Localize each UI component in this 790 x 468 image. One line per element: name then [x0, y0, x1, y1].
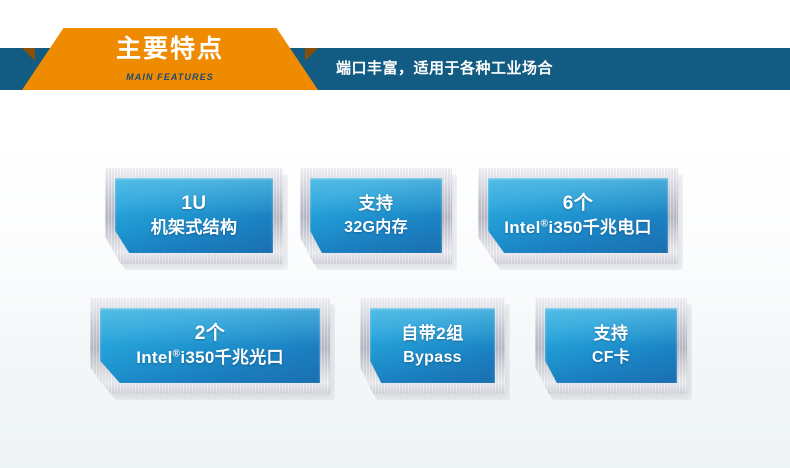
model-text: i350千兆光口 — [180, 348, 284, 367]
feature-highlight-page: 主要特点 MAIN FEATURES 端口丰富，适用于各种工业场合 1U 机架式… — [0, 0, 790, 468]
feature-box-panel: 1U 机架式结构 — [115, 178, 273, 253]
feature-line-secondary: 32G内存 — [344, 216, 408, 240]
brand-name: Intel — [136, 348, 172, 367]
feature-box-panel: 6个 Intel®i350千兆电口 — [488, 178, 668, 253]
feature-box-copper-ports: 6个 Intel®i350千兆电口 — [478, 168, 678, 264]
feature-box-text: 支持 32G内存 — [310, 178, 442, 253]
feature-box-panel: 自带2组 Bypass — [370, 308, 495, 383]
feature-box-frame: 2个 Intel®i350千兆光口 — [90, 298, 330, 394]
feature-line-secondary: 机架式结构 — [151, 216, 238, 240]
feature-line-secondary: CF卡 — [592, 346, 630, 370]
feature-line-primary: 支持 — [359, 191, 394, 216]
feature-line-primary: 6个 — [563, 191, 594, 216]
feature-box-text: 自带2组 Bypass — [370, 308, 495, 383]
feature-box-text: 6个 Intel®i350千兆电口 — [488, 178, 668, 253]
feature-box-frame: 支持 32G内存 — [300, 168, 452, 264]
feature-box-text: 2个 Intel®i350千兆光口 — [100, 308, 320, 383]
feature-line-secondary: Intel®i350千兆电口 — [504, 216, 652, 240]
feature-box-grid: 1U 机架式结构 支持 32G内存 — [0, 0, 790, 468]
feature-box-panel: 支持 CF卡 — [545, 308, 677, 383]
feature-box-frame: 6个 Intel®i350千兆电口 — [478, 168, 678, 264]
feature-box-panel: 2个 Intel®i350千兆光口 — [100, 308, 320, 383]
feature-box-text: 1U 机架式结构 — [115, 178, 273, 253]
feature-line-primary: 支持 — [594, 321, 629, 346]
feature-line-primary: 1U — [181, 191, 206, 216]
feature-box-memory: 支持 32G内存 — [300, 168, 452, 264]
feature-line-primary: 2个 — [195, 321, 226, 346]
feature-box-fiber-ports: 2个 Intel®i350千兆光口 — [90, 298, 330, 394]
feature-box-1u: 1U 机架式结构 — [105, 168, 283, 264]
feature-box-frame: 1U 机架式结构 — [105, 168, 283, 264]
feature-box-panel: 支持 32G内存 — [310, 178, 442, 253]
model-text: i350千兆电口 — [548, 218, 652, 237]
feature-box-bypass: 自带2组 Bypass — [360, 298, 505, 394]
feature-line-primary: 自带2组 — [401, 321, 463, 346]
feature-box-text: 支持 CF卡 — [545, 308, 677, 383]
feature-box-cf-card: 支持 CF卡 — [535, 298, 687, 394]
feature-line-secondary: Intel®i350千兆光口 — [136, 346, 284, 370]
feature-box-frame: 自带2组 Bypass — [360, 298, 505, 394]
feature-line-secondary: Bypass — [403, 346, 462, 370]
brand-name: Intel — [504, 218, 540, 237]
feature-box-frame: 支持 CF卡 — [535, 298, 687, 394]
